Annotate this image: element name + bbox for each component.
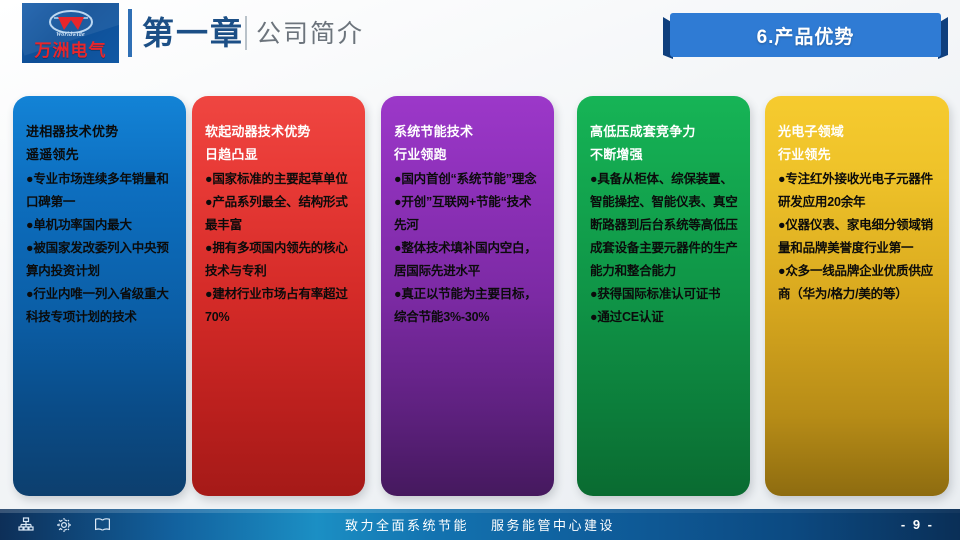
advantage-card-list: 进相器技术优势 遥遥领先 ●专业市场连续多年销量和口碑第一 ●单机功率国内最大 … xyxy=(0,96,960,496)
card-title-line1: 光电子领域 xyxy=(778,120,938,143)
card-bullet: ●国家标准的主要起草单位 xyxy=(205,168,354,191)
card-bullets: ●专注红外接收光电子元器件研发应用20余年 ●仪器仪表、家电细分领域销量和品牌美… xyxy=(778,168,938,306)
advantage-card-5[interactable]: 光电子领域 行业领先 ●专注红外接收光电子元器件研发应用20余年 ●仪器仪表、家… xyxy=(765,96,949,496)
card-bullet: ●行业内唯一列入省级重大科技专项计划的技术 xyxy=(26,283,175,329)
card-title-line1: 系统节能技术 xyxy=(394,120,543,143)
slide-header: Worldwide 万洲电气 第一章 公司简介 6.产品优势 xyxy=(0,0,960,86)
logo-latin-text: Worldwide xyxy=(22,32,119,38)
card-bullet: ●专业市场连续多年销量和口碑第一 xyxy=(26,168,175,214)
banner-title-text: 6.产品优势 xyxy=(757,22,855,49)
page-number: - 9 - xyxy=(901,509,934,540)
card-bullet: ●获得国际标准认可证书 xyxy=(590,283,739,306)
card-title-line1: 高低压成套竞争力 xyxy=(590,120,739,143)
company-logo: Worldwide 万洲电气 xyxy=(22,3,119,63)
card-bullets: ●国内首创“系统节能”理念 ●开创”互联网+节能“技术先河 ●整体技术填补国内空… xyxy=(394,168,543,329)
card-bullets: ●专业市场连续多年销量和口碑第一 ●单机功率国内最大 ●被国家发改委列入中央预算… xyxy=(26,168,175,329)
slide-footer: 致力全面系统节能 服务能管中心建设 - 9 - xyxy=(0,509,960,540)
card-bullet: ●单机功率国内最大 xyxy=(26,214,175,237)
footer-slogan-left: 致力全面系统节能 xyxy=(345,515,469,534)
card-bullet: ●通过CE认证 xyxy=(590,306,739,329)
card-bullet: ●仪器仪表、家电细分领域销量和品牌美誉度行业第一 xyxy=(778,214,938,260)
footer-slogan: 致力全面系统节能 服务能管中心建设 xyxy=(0,509,960,540)
card-bullets: ●国家标准的主要起草单位 ●产品系列最全、结构形式最丰富 ●拥有多项国内领先的核… xyxy=(205,168,354,329)
advantage-card-4[interactable]: 高低压成套竞争力 不断增强 ●具备从柜体、综保装置、智能操控、智能仪表、真空断路… xyxy=(577,96,750,496)
card-bullet: ●众多一线品牌企业优质供应商（华为/格力/美的等） xyxy=(778,260,938,306)
card-bullet: ●具备从柜体、综保装置、智能操控、智能仪表、真空断路器到后台系统等高低压成套设备… xyxy=(590,168,739,283)
chapter-subtitle: 公司简介 xyxy=(256,18,364,50)
card-bullet: ●被国家发改委列入中央预算内投资计划 xyxy=(26,237,175,283)
logo-emblem-icon xyxy=(22,8,119,34)
card-title-line2: 不断增强 xyxy=(590,143,739,166)
header-separator xyxy=(245,16,247,50)
advantage-card-1[interactable]: 进相器技术优势 遥遥领先 ●专业市场连续多年销量和口碑第一 ●单机功率国内最大 … xyxy=(13,96,186,496)
logo-chinese-text: 万洲电气 xyxy=(22,40,119,61)
card-bullet: ●拥有多项国内领先的核心技术与专利 xyxy=(205,237,354,283)
advantage-card-3[interactable]: 系统节能技术 行业领跑 ●国内首创“系统节能”理念 ●开创”互联网+节能“技术先… xyxy=(381,96,554,496)
section-banner: 6.产品优势 xyxy=(663,13,948,57)
card-bullet: ●专注红外接收光电子元器件研发应用20余年 xyxy=(778,168,938,214)
card-bullet: ●国内首创“系统节能”理念 xyxy=(394,168,543,191)
card-title-line2: 行业领跑 xyxy=(394,143,543,166)
card-title-line2: 行业领先 xyxy=(778,143,938,166)
banner-body: 6.产品优势 xyxy=(670,13,941,57)
card-bullet: ●整体技术填补国内空白，居国际先进水平 xyxy=(394,237,543,283)
card-bullet: ●产品系列最全、结构形式最丰富 xyxy=(205,191,354,237)
card-bullet: ●开创”互联网+节能“技术先河 xyxy=(394,191,543,237)
card-title-line1: 进相器技术优势 xyxy=(26,120,175,143)
card-bullet: ●建材行业市场占有率超过70% xyxy=(205,283,354,329)
footer-slogan-right: 服务能管中心建设 xyxy=(491,515,615,534)
header-accent-bar xyxy=(128,9,132,57)
card-bullets: ●具备从柜体、综保装置、智能操控、智能仪表、真空断路器到后台系统等高低压成套设备… xyxy=(590,168,739,329)
chapter-title: 第一章 xyxy=(142,14,244,52)
card-title-line2: 日趋凸显 xyxy=(205,143,354,166)
card-bullet: ●真正以节能为主要目标，综合节能3%-30% xyxy=(394,283,543,329)
card-title-line2: 遥遥领先 xyxy=(26,143,175,166)
advantage-card-2[interactable]: 软起动器技术优势 日趋凸显 ●国家标准的主要起草单位 ●产品系列最全、结构形式最… xyxy=(192,96,365,496)
card-title-line1: 软起动器技术优势 xyxy=(205,120,354,143)
